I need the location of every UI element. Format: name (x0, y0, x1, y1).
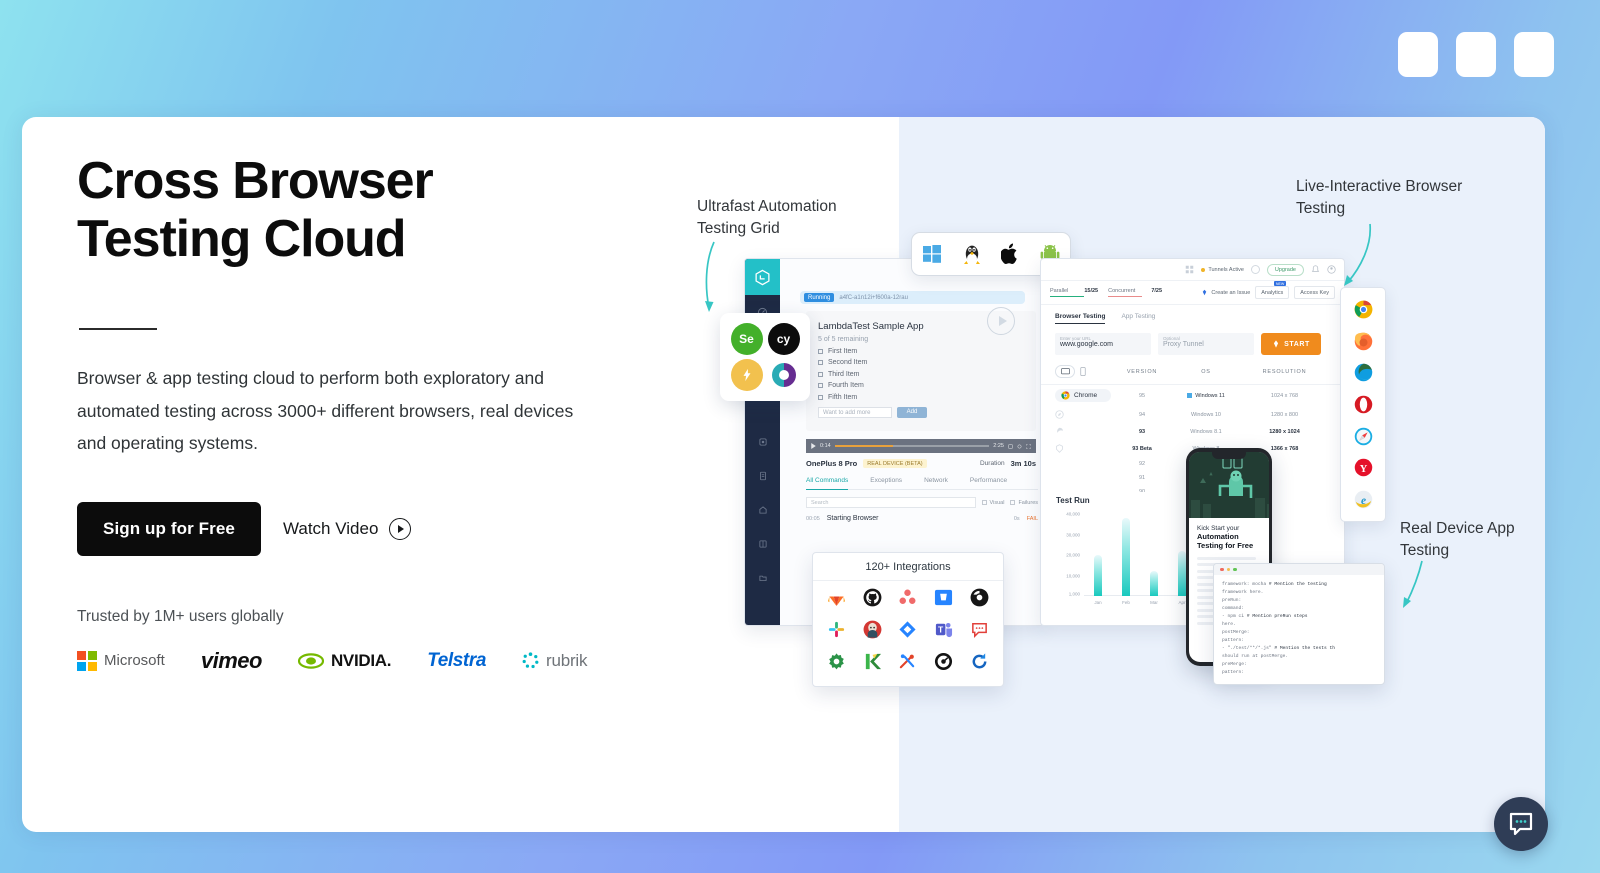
hero-copy: Cross Browser Testing Cloud Browser & ap… (77, 152, 677, 674)
page-title: Cross Browser Testing Cloud (77, 152, 677, 268)
annotation-real-device: Real Device App Testing (1400, 518, 1560, 563)
logo-microsoft: Microsoft (77, 651, 165, 671)
headline-line-1: Cross Browser (77, 152, 433, 210)
arrow-ultrafast-icon (698, 240, 726, 318)
logo-vimeo-label: vimeo (201, 648, 262, 674)
hero-right-background (899, 117, 1545, 832)
microsoft-icon (77, 651, 97, 671)
watch-video-label: Watch Video (283, 519, 378, 539)
logo-telstra: Telstra (427, 650, 486, 672)
window-button-3[interactable] (1514, 32, 1554, 77)
window-controls (1398, 32, 1554, 77)
logo-nvidia-label: NVIDIA. (331, 651, 391, 671)
watch-video-button[interactable]: Watch Video (283, 518, 411, 540)
chat-bubble[interactable] (1494, 797, 1548, 851)
logo-rubrik-label: rubrik (546, 651, 587, 671)
arrow-realdevice-icon (1398, 558, 1430, 612)
rubrik-icon (522, 652, 539, 669)
annotation-ultrafast: Ultrafast Automation Testing Grid (697, 196, 877, 241)
arrow-live-icon (1336, 222, 1378, 290)
window-button-2[interactable] (1456, 32, 1496, 77)
customer-logos: Microsoft vimeo NVIDIA. Telstra (77, 648, 677, 674)
headline-line-2: Testing Cloud (77, 210, 405, 268)
nvidia-eye-icon (298, 653, 324, 669)
signup-button[interactable]: Sign up for Free (77, 502, 261, 556)
chat-icon (1508, 812, 1534, 836)
annotation-live-interactive: Live-Interactive Browser Testing (1296, 176, 1476, 221)
cta-row: Sign up for Free Watch Video (77, 502, 677, 556)
logo-microsoft-label: Microsoft (104, 652, 165, 669)
logo-rubrik: rubrik (522, 651, 587, 671)
play-icon (389, 518, 411, 540)
trusted-text: Trusted by 1M+ users globally (77, 608, 677, 626)
divider-rule (79, 328, 157, 330)
logo-telstra-label: Telstra (427, 650, 486, 672)
logo-vimeo: vimeo (201, 648, 262, 674)
hero-subcopy: Browser & app testing cloud to perform b… (77, 362, 577, 459)
window-button-1[interactable] (1398, 32, 1438, 77)
logo-nvidia: NVIDIA. (298, 651, 391, 671)
